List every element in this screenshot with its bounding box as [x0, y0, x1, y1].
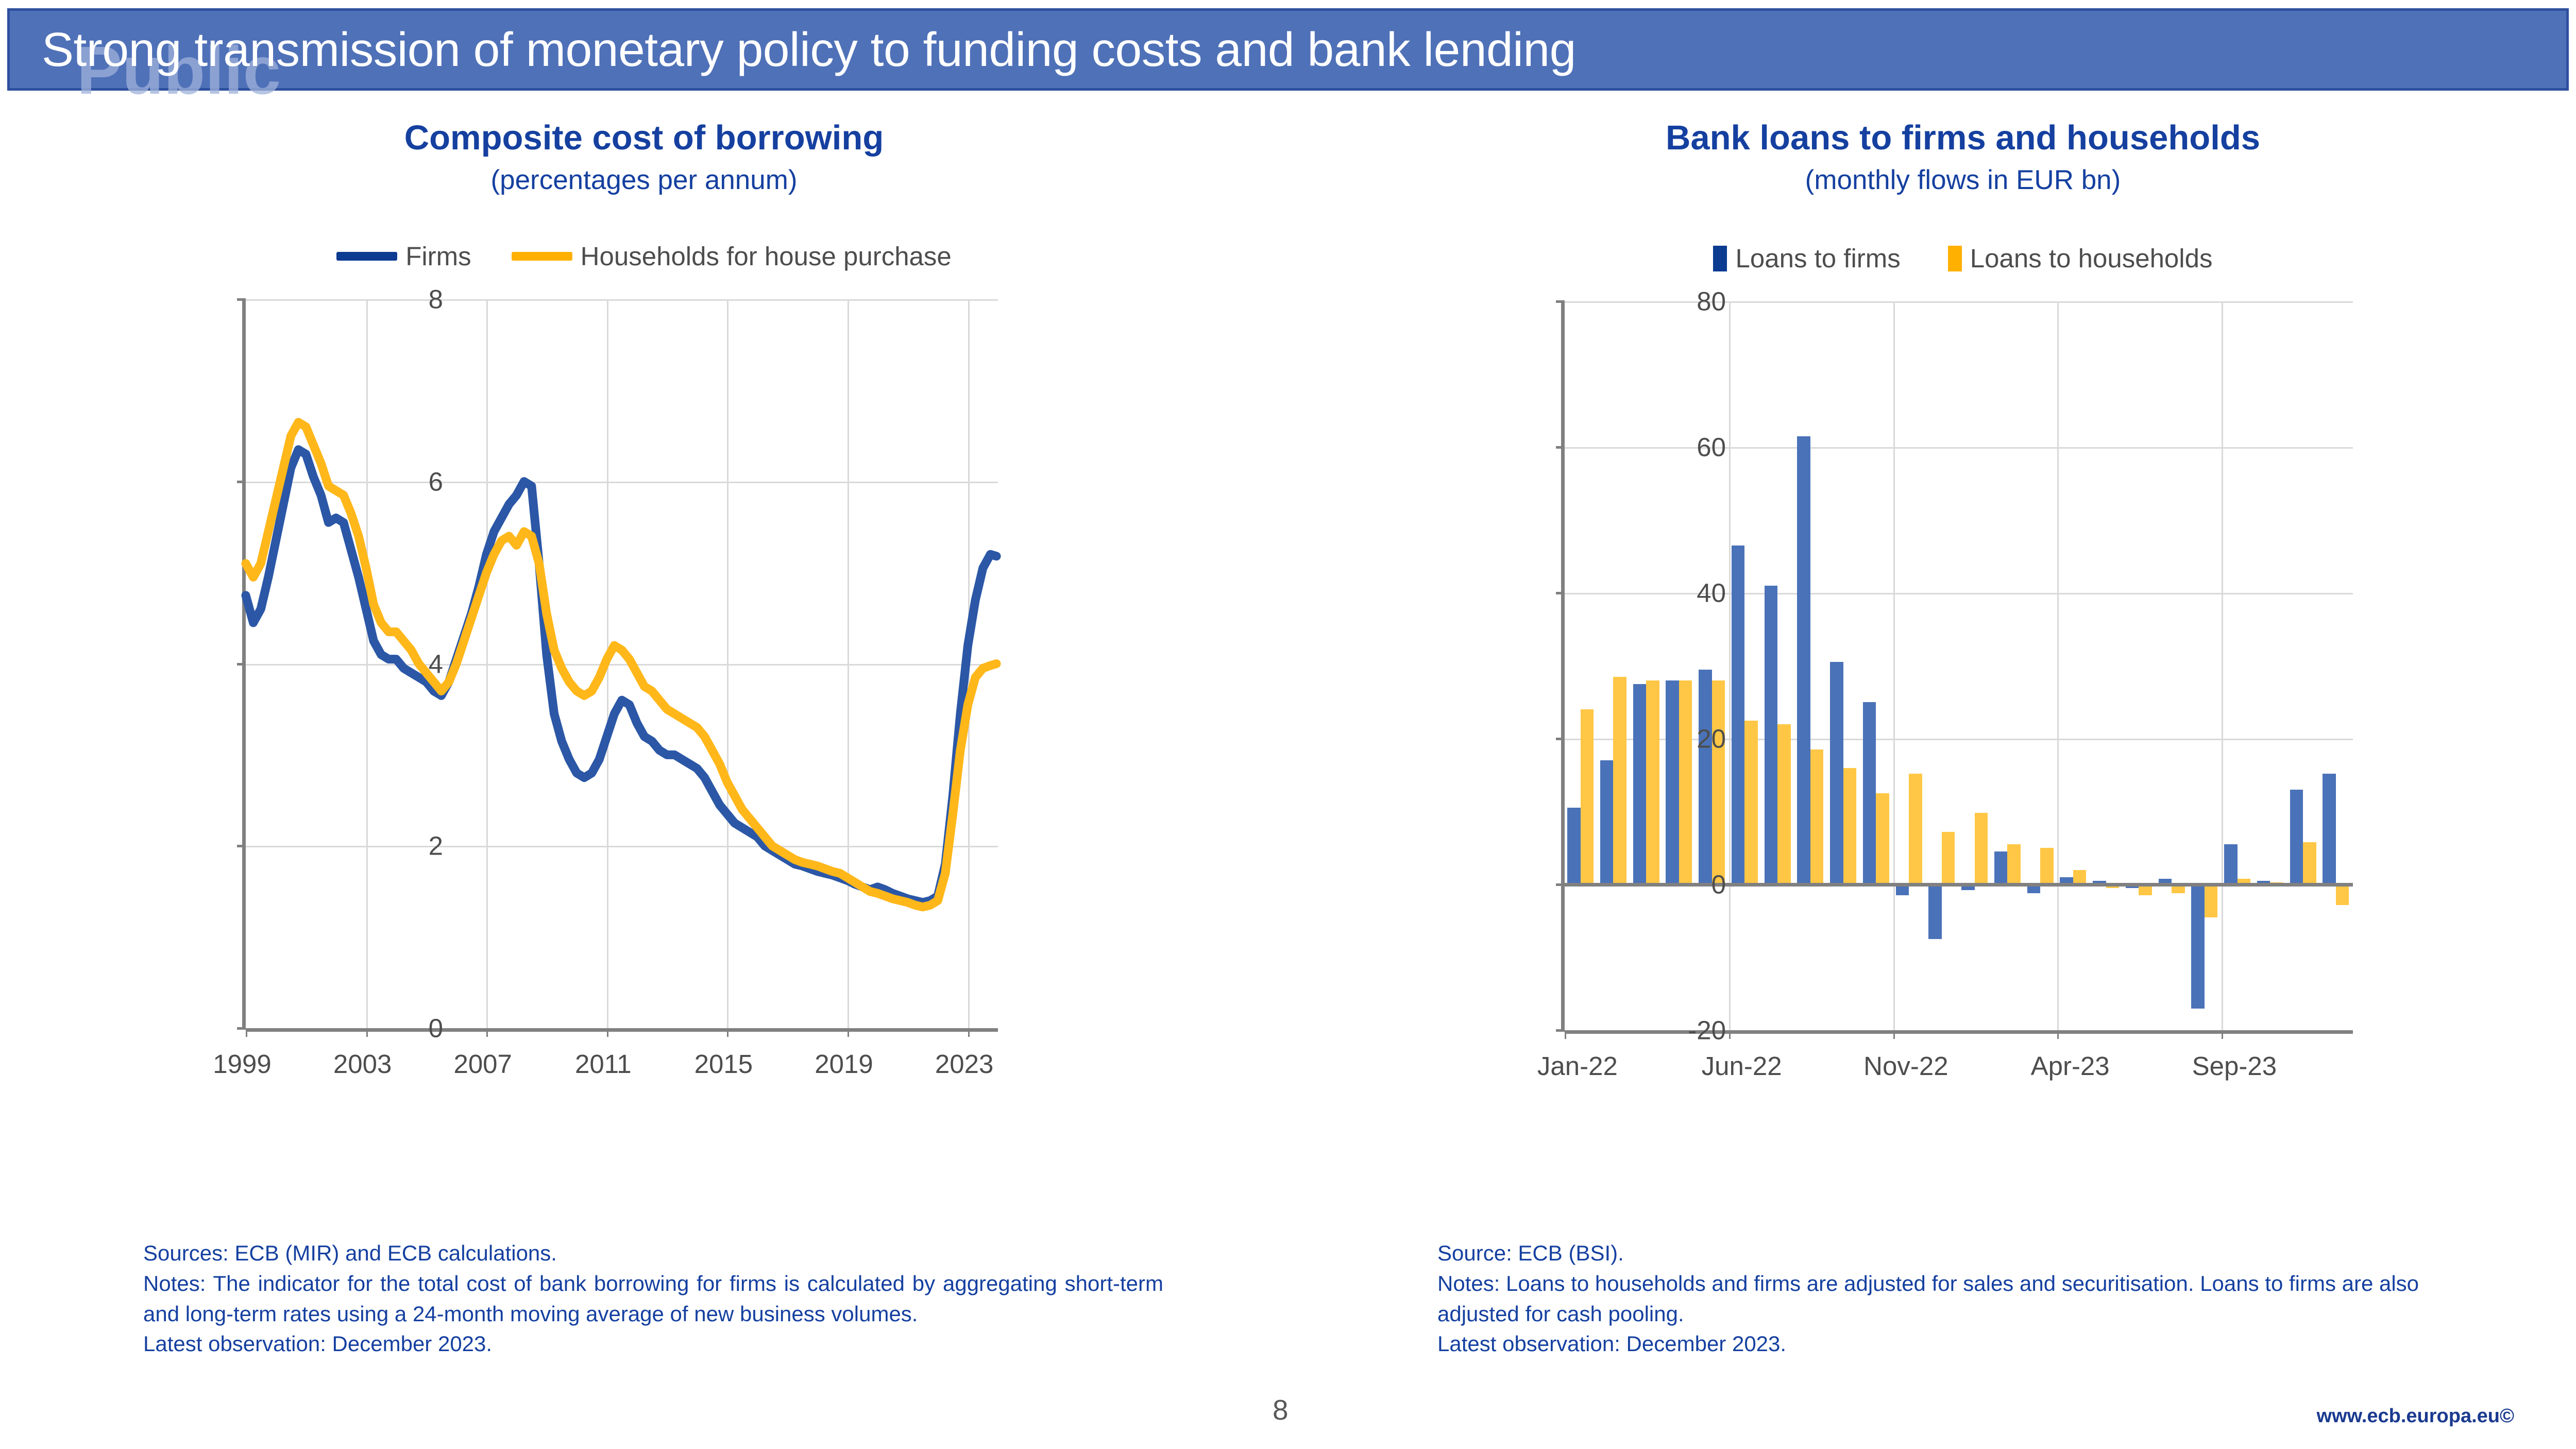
y-axis-tick-label: 60 [1697, 432, 1726, 463]
right-chart-title: Bank loans to firms and households [1391, 118, 2535, 157]
page-number: 8 [1273, 1393, 1289, 1426]
x-axis-tick-label: 2023 [935, 1049, 993, 1079]
bar-loans-to-households [1646, 680, 1659, 884]
gridline-vertical [1893, 301, 1895, 1030]
x-axis-line [1565, 1030, 2353, 1034]
x-axis-tick-label: 2007 [453, 1049, 512, 1079]
bar-loans-to-firms [1928, 884, 1942, 939]
left-chart-panel: Composite cost of borrowing (percentages… [72, 118, 1216, 1062]
x-axis-tick [968, 1028, 970, 1037]
y-axis-tick-label: 6 [429, 466, 443, 497]
gridline-vertical [1729, 301, 1731, 1030]
x-axis-tick-label: Nov-22 [1863, 1051, 1948, 1081]
left-chart-subtitle: (percentages per annum) [72, 164, 1216, 196]
page-title: Strong transmission of monetary policy t… [42, 22, 1576, 77]
gridline-vertical [2222, 301, 2223, 1030]
bar-loans-to-households [2007, 844, 2021, 884]
bar-loans-to-firms [1600, 760, 1614, 884]
bar-loans-to-firms [1994, 851, 2008, 884]
right-chart-legend: Loans to firms Loans to households [1391, 243, 2535, 274]
x-axis-tick [486, 1028, 488, 1037]
bar-loans-to-households [1581, 709, 1594, 884]
legend-swatch-loans-to-households-icon [1948, 246, 1962, 271]
y-axis-tick [237, 481, 246, 483]
y-axis-tick-label: 80 [1697, 286, 1726, 317]
y-axis-tick [237, 1027, 246, 1030]
bar-plot-area [1561, 301, 2353, 1030]
right-chart-subtitle: (monthly flows in EUR bn) [1391, 164, 2535, 196]
x-axis-tick-label: Jun-22 [1702, 1051, 1782, 1081]
zero-baseline [1565, 883, 2353, 887]
bar-loans-to-firms [2224, 844, 2238, 884]
x-axis-tick-label: Apr-23 [2031, 1051, 2110, 1081]
line-series-group [246, 299, 998, 1028]
y-axis-tick-label: 0 [1711, 870, 1726, 900]
right-notes-source: Source: ECB (BSI). [1437, 1238, 2439, 1269]
gridline-vertical [2057, 301, 2059, 1030]
y-axis-tick-label: -20 [1688, 1015, 1726, 1046]
bar-loans-to-households [1613, 677, 1626, 884]
x-axis-tick-label: Jan-22 [1537, 1051, 1618, 1081]
y-axis-tick-label: 2 [429, 831, 443, 861]
line-series-households [246, 422, 996, 907]
left-chart-title: Composite cost of borrowing [72, 118, 1216, 157]
bar-loans-to-households [1679, 680, 1692, 884]
x-axis-tick-label: 2015 [694, 1049, 753, 1079]
bar-loans-to-households [2073, 870, 2087, 884]
bar-loans-to-firms [2191, 884, 2205, 1009]
y-axis-tick [1556, 738, 1565, 740]
left-chart-legend: Firms Households for house purchase [72, 241, 1216, 271]
x-axis-tick-label: 2011 [575, 1049, 632, 1079]
legend-label-firms: Firms [405, 241, 471, 271]
x-axis-tick-label: Sep-23 [2192, 1051, 2277, 1081]
legend-label-loans-to-households: Loans to households [1970, 243, 2213, 274]
bar-loans-to-firms [2290, 790, 2303, 884]
right-notes-body: Notes: Loans to households and firms are… [1437, 1269, 2439, 1329]
legend-line-firms-icon [336, 252, 397, 261]
bar-loans-to-firms [1830, 662, 1843, 884]
line-series-firms [246, 450, 996, 902]
y-axis-tick [237, 298, 246, 301]
y-axis-tick [1556, 300, 1565, 303]
x-axis-tick [607, 1028, 608, 1037]
legend-item-loans-to-firms[interactable]: Loans to firms [1713, 243, 1900, 274]
legend-item-loans-to-households[interactable]: Loans to households [1948, 243, 2213, 274]
right-chart-panel: Bank loans to firms and households (mont… [1391, 118, 2535, 1064]
x-axis-tick [848, 1028, 849, 1037]
bar-loans-to-firms [1765, 586, 1778, 884]
left-chart-notes: Sources: ECB (MIR) and ECB calculations.… [143, 1238, 1163, 1359]
footer-url: www.ecb.europa.eu© [2317, 1405, 2514, 1427]
legend-line-households-icon [512, 252, 572, 261]
y-axis-tick [1556, 1029, 1565, 1032]
bar-loans-to-firms [1666, 680, 1679, 884]
x-axis-tick [246, 1028, 247, 1037]
bar-loans-to-firms [2323, 774, 2336, 884]
bar-loans-to-households [2205, 884, 2218, 917]
bar-loans-to-households [2336, 884, 2349, 905]
x-axis-tick-label: 2003 [333, 1049, 392, 1079]
bar-loans-to-firms [1567, 808, 1581, 884]
right-chart-notes: Source: ECB (BSI). Notes: Loans to house… [1437, 1238, 2439, 1359]
bar-loans-to-households [2040, 848, 2054, 884]
x-axis-tick-label: 2019 [815, 1049, 873, 1079]
bar-loans-to-households [1744, 721, 1758, 884]
left-notes-body: Notes: The indicator for the total cost … [143, 1269, 1163, 1329]
gridline-horizontal [1565, 593, 2353, 594]
y-axis-tick-label: 40 [1697, 578, 1726, 608]
y-axis-tick-label: 20 [1697, 724, 1726, 754]
legend-label-households: Households for house purchase [581, 241, 952, 271]
bar-loans-to-households [1909, 774, 1922, 884]
gridline-horizontal [1565, 447, 2353, 449]
bar-loans-to-households [1843, 768, 1857, 884]
bar-loans-to-households [2303, 842, 2316, 884]
bar-loans-to-households [1712, 680, 1725, 884]
y-axis-tick-label: 0 [429, 1013, 443, 1044]
x-axis-tick [366, 1028, 368, 1037]
line-plot-area [242, 299, 998, 1028]
bar-loans-to-households [1876, 793, 1889, 884]
x-axis-tick [727, 1028, 728, 1037]
legend-item-households[interactable]: Households for house purchase [512, 241, 952, 271]
bar-loans-to-firms [1699, 670, 1712, 884]
bar-loans-to-firms [1863, 702, 1876, 884]
left-notes-latest: Latest observation: December 2023. [143, 1329, 1163, 1359]
legend-label-loans-to-firms: Loans to firms [1735, 243, 1900, 274]
bar-loans-to-firms [1797, 436, 1810, 884]
right-notes-latest: Latest observation: December 2023. [1437, 1329, 2439, 1359]
line-chart: 024681999200320072011201520192023 [72, 289, 1216, 1062]
legend-item-firms[interactable]: Firms [336, 241, 471, 271]
y-axis-tick [237, 845, 246, 847]
y-axis-tick [1556, 883, 1565, 886]
y-axis-tick [237, 663, 246, 666]
y-axis-tick [1556, 446, 1565, 449]
bar-loans-to-firms [1633, 684, 1647, 884]
bar-loans-to-households [1810, 749, 1824, 884]
y-axis-tick [1556, 592, 1565, 594]
slide-title-bar: Public Strong transmission of monetary p… [7, 8, 2569, 91]
y-axis-tick-label: 4 [429, 649, 443, 679]
bar-loans-to-households [1975, 813, 1988, 884]
left-notes-source: Sources: ECB (MIR) and ECB calculations. [143, 1238, 1163, 1269]
bar-loans-to-households [1777, 724, 1791, 884]
legend-swatch-loans-to-firms-icon [1713, 246, 1727, 271]
gridline-horizontal [1565, 301, 2353, 303]
bar-loans-to-households [1942, 832, 1955, 884]
x-axis-line [246, 1028, 998, 1032]
bar-chart: -20020406080Jan-22Jun-22Nov-22Apr-23Sep-… [1391, 291, 2535, 1064]
bar-loans-to-firms [1732, 545, 1745, 884]
x-axis-tick-label: 1999 [213, 1049, 271, 1079]
y-axis-tick-label: 8 [429, 284, 443, 315]
